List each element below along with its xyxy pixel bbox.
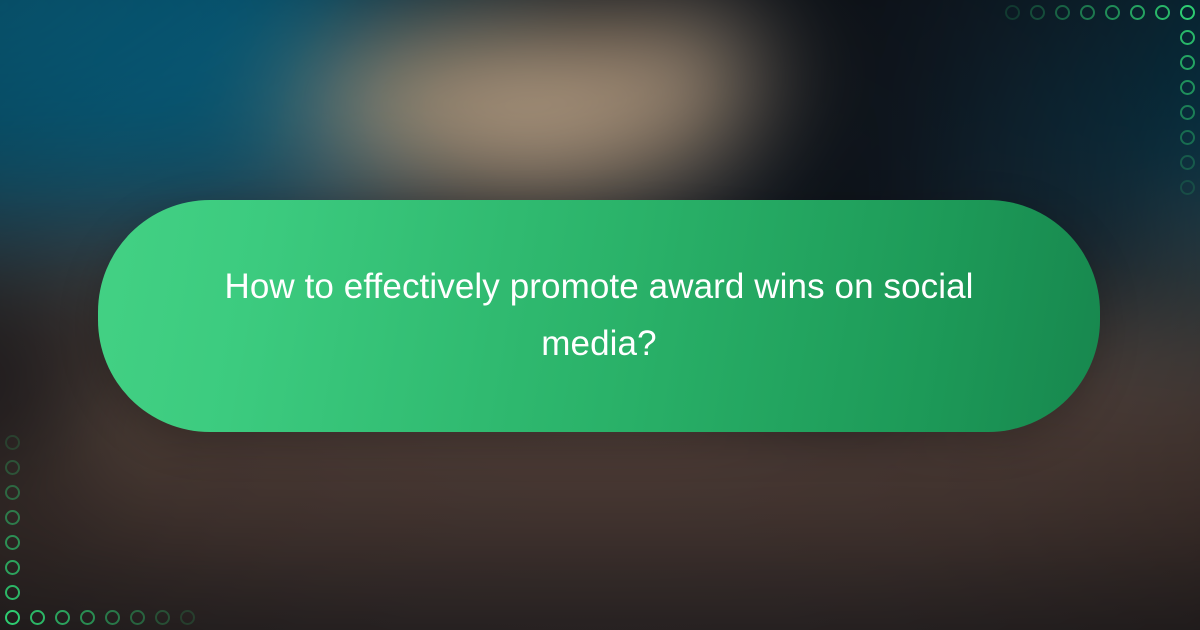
decorative-ring [1180,80,1195,95]
decorative-ring [1180,180,1195,195]
decorative-ring [5,560,20,575]
decorative-ring [1180,30,1195,45]
decorative-ring [1080,5,1095,20]
decorative-ring [80,610,95,625]
decorative-ring [5,460,20,475]
decorative-ring [5,610,20,625]
decorative-ring [105,610,120,625]
decorative-ring [1055,5,1070,20]
decorative-ring [1180,130,1195,145]
decorative-ring [1155,5,1170,20]
decorative-ring [5,510,20,525]
question-card[interactable]: How to effectively promote award wins on… [98,200,1100,432]
decorative-rings-top-right [990,0,1200,210]
question-card-canvas: How to effectively promote award wins on… [0,0,1200,630]
decorative-rings-bottom-left [0,420,210,630]
decorative-ring [1005,5,1020,20]
decorative-ring [130,610,145,625]
decorative-ring [1130,5,1145,20]
decorative-ring [30,610,45,625]
decorative-ring [5,585,20,600]
decorative-ring [1030,5,1045,20]
decorative-ring [1180,5,1195,20]
decorative-ring [1180,55,1195,70]
decorative-ring [55,610,70,625]
decorative-ring [180,610,195,625]
decorative-ring [5,485,20,500]
question-text: How to effectively promote award wins on… [98,259,1100,372]
decorative-ring [1180,155,1195,170]
decorative-ring [1180,105,1195,120]
decorative-ring [5,535,20,550]
decorative-ring [155,610,170,625]
decorative-ring [1105,5,1120,20]
decorative-ring [5,435,20,450]
